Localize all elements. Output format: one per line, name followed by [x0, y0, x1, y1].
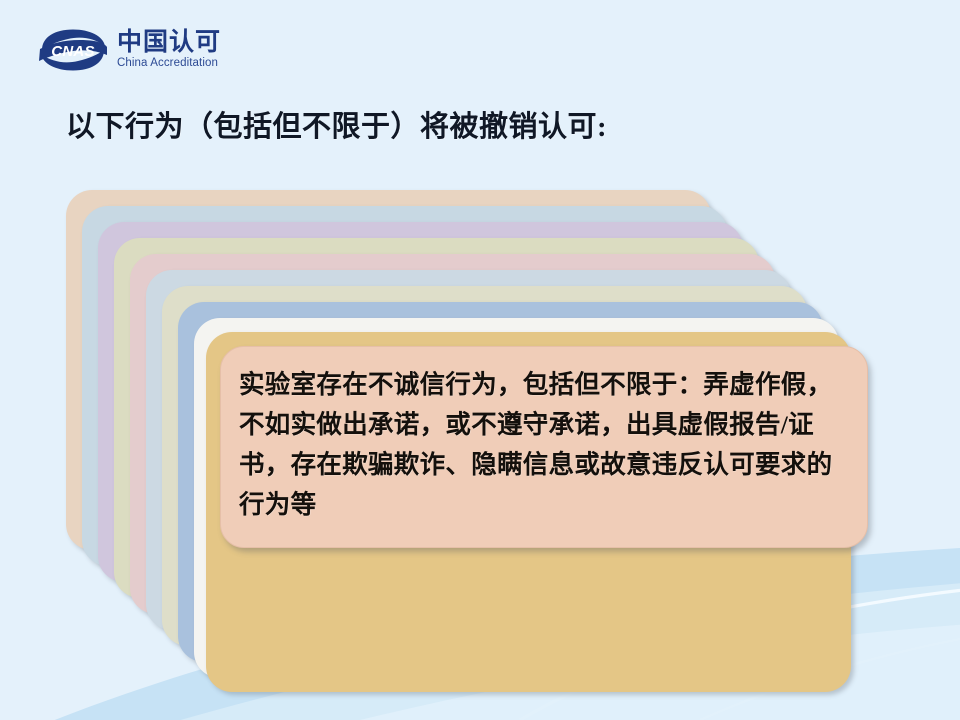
- front-card-body-text: 实验室存在不诚信行为，包括但不限于：弄虚作假，不如实做出承诺，或不遵守承诺，出具…: [239, 365, 843, 525]
- front-card[interactable]: 实验室存在不诚信行为，包括但不限于：弄虚作假，不如实做出承诺，或不遵守承诺，出具…: [220, 346, 868, 548]
- slide-canvas: CNAS 中国认可 China Accreditation 以下行为（包括但不限…: [0, 0, 960, 720]
- card-stack: 实验室存在不诚信行为，包括但不限于：弄虚作假，不如实做出承诺，或不遵守承诺，出具…: [0, 0, 960, 720]
